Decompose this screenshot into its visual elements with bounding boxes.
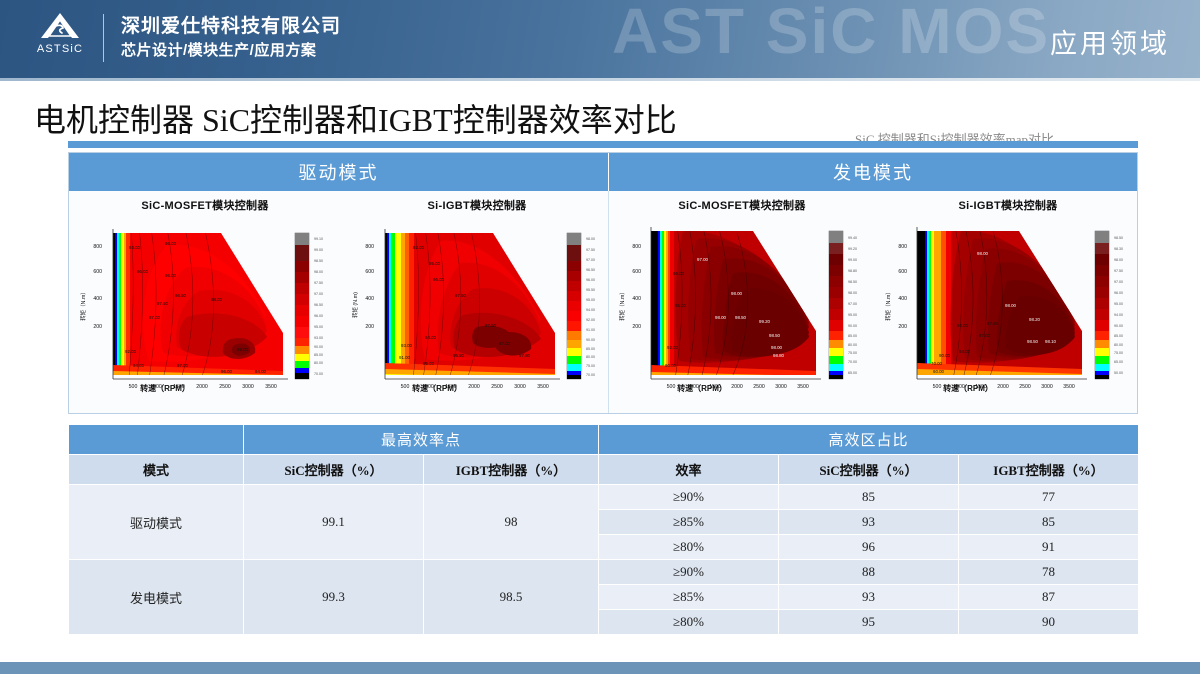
svg-text:95.00: 95.00 (1114, 302, 1123, 306)
table-column-header-row: 模式 SiC控制器（%） IGBT控制器（%） 效率 SiC控制器（%） IGB… (69, 455, 1139, 485)
chart-ylabel-drive-sic: 转矩（N.m） (79, 289, 87, 320)
section-title: 应用领域 (1050, 22, 1170, 61)
ratio-igbt: 78 (959, 560, 1139, 585)
page-title: 电机控制器 SiC控制器和IGBT控制器效率对比 (34, 95, 677, 141)
svg-text:70.00: 70.00 (931, 361, 943, 366)
sic-peak-generation: 99.3 (244, 560, 424, 635)
svg-text:96.00: 96.00 (221, 369, 233, 374)
colhead-sic-ratio: SiC控制器（%） (779, 455, 959, 485)
ratio-efficiency: ≥85% (599, 510, 779, 535)
logo-wordmark: ASTSiC (28, 43, 92, 55)
colhead-efficiency: 效率 (599, 455, 779, 485)
colorbar-gen-igbt: 98.5098.30 98.0097.50 97.0096.00 95.0094… (1095, 231, 1123, 379)
svg-text:98.80: 98.80 (848, 269, 857, 273)
header-watermark: AST SiC MOS (612, 0, 1050, 68)
ratio-efficiency: ≥90% (599, 485, 779, 510)
svg-text:98.00: 98.00 (977, 251, 989, 256)
svg-text:96.00: 96.00 (137, 269, 149, 274)
colhead-igbt-ratio: IGBT控制器（%） (959, 455, 1139, 485)
chart-gen-igbt: Si-IGBT模块控制器 (875, 191, 1141, 413)
svg-text:200: 200 (632, 324, 641, 330)
svg-text:90.00: 90.00 (939, 353, 951, 358)
svg-text:91.00: 91.00 (399, 355, 411, 360)
svg-text:97.00: 97.00 (848, 302, 857, 306)
svg-text:92.00: 92.00 (413, 245, 425, 250)
chart-gen-sic: SiC-MOSFET模块控制器 (609, 191, 875, 413)
svg-text:95.00: 95.00 (314, 325, 323, 329)
chart-area-gen-igbt: 200 400 600 800 500 1000 1500 2000 2500 (877, 215, 1139, 393)
svg-text:96.00: 96.00 (586, 278, 595, 282)
svg-text:400: 400 (93, 296, 102, 302)
svg-text:98.00: 98.00 (731, 291, 743, 296)
svg-text:400: 400 (898, 296, 907, 302)
svg-text:80.00: 80.00 (586, 355, 595, 359)
svg-text:97.50: 97.50 (157, 301, 169, 306)
svg-text:96.00: 96.00 (165, 273, 177, 278)
svg-text:85.00: 85.00 (586, 347, 595, 351)
svg-text:80.00: 80.00 (848, 343, 857, 347)
ratio-efficiency: ≥85% (599, 585, 779, 610)
svg-text:200: 200 (898, 324, 907, 330)
svg-text:800: 800 (93, 244, 102, 250)
svg-text:97.50: 97.50 (485, 323, 497, 328)
svg-text:97.00: 97.00 (979, 333, 991, 338)
table-row: 发电模式 99.3 98.5 ≥90% 88 78 (69, 560, 1139, 585)
ratio-sic: 85 (779, 485, 959, 510)
svg-text:800: 800 (365, 244, 374, 250)
chart-title-drive-sic: SiC-MOSFET模块控制器 (71, 197, 339, 213)
svg-text:92.00: 92.00 (667, 345, 679, 350)
svg-text:97.00: 97.00 (1114, 280, 1123, 284)
svg-text:400: 400 (365, 296, 374, 302)
chart-title-gen-igbt: Si-IGBT模块控制器 (877, 197, 1139, 213)
svg-text:98.00: 98.00 (1005, 303, 1017, 308)
ratio-sic: 93 (779, 585, 959, 610)
svg-text:200: 200 (365, 324, 374, 330)
svg-text:98.50: 98.50 (314, 259, 323, 263)
chart-drive-igbt: Si-IGBT模块控制器 (341, 191, 613, 413)
chart-drive-sic: SiC-MOSFET模块控制器 (69, 191, 341, 413)
svg-text:97.00: 97.00 (499, 341, 511, 346)
panel-generation-mode: SiC-MOSFET模块控制器 (609, 191, 1137, 413)
svg-text:70.00: 70.00 (848, 360, 857, 364)
ratio-efficiency: ≥90% (599, 560, 779, 585)
band-header-generate: 发电模式 (609, 153, 1137, 191)
svg-text:97.50: 97.50 (1114, 269, 1123, 273)
colorbar-gen-sic: 99.4099.20 99.0098.80 98.5098.00 97.0095… (829, 231, 857, 379)
svg-text:600: 600 (898, 269, 907, 275)
svg-text:70.00: 70.00 (314, 372, 323, 376)
svg-text:97.00: 97.00 (697, 257, 709, 262)
svg-text:90.00: 90.00 (848, 324, 857, 328)
company-tagline: 芯片设计/模块生产/应用方案 (121, 39, 341, 62)
svg-text:800: 800 (898, 244, 907, 250)
band-header-drive: 驱动模式 (69, 153, 609, 191)
svg-text:80.00: 80.00 (314, 361, 323, 365)
comparison-table-wrap: 最高效率点 高效区占比 模式 SiC控制器（%） IGBT控制器（%） 效率 S… (68, 424, 1138, 635)
svg-text:98.80: 98.80 (773, 353, 785, 358)
svg-text:96.50: 96.50 (175, 293, 187, 298)
svg-text:600: 600 (632, 269, 641, 275)
ratio-sic: 95 (779, 610, 959, 635)
svg-text:70.00: 70.00 (586, 373, 595, 377)
svg-text:97.80: 97.80 (519, 353, 531, 358)
svg-text:97.50: 97.50 (987, 321, 999, 326)
svg-text:96.00: 96.00 (314, 314, 323, 318)
ratio-efficiency: ≥80% (599, 610, 779, 635)
svg-text:75.00: 75.00 (586, 364, 595, 368)
svg-text:99.40: 99.40 (848, 236, 857, 240)
svg-text:94.00: 94.00 (959, 349, 971, 354)
svg-text:96.00: 96.00 (1114, 291, 1123, 295)
svg-text:97.50: 97.50 (586, 248, 595, 252)
igbt-peak-drive: 98 (424, 485, 599, 560)
svg-text:97.00: 97.00 (177, 363, 189, 368)
svg-text:90.00: 90.00 (586, 338, 595, 342)
svg-text:98.00: 98.00 (586, 237, 595, 241)
svg-text:94.00: 94.00 (133, 363, 145, 368)
efficiency-map-gen-sic: 200 400 600 800 500 1000 1500 2000 2500 (611, 215, 873, 393)
mode-name-drive: 驱动模式 (69, 485, 244, 560)
svg-text:95.00: 95.00 (429, 261, 441, 266)
svg-text:96.00: 96.00 (673, 271, 685, 276)
svg-text:93.00: 93.00 (129, 245, 141, 250)
svg-text:92.00: 92.00 (125, 349, 137, 354)
svg-text:98.50: 98.50 (735, 315, 747, 320)
svg-text:99.00: 99.00 (237, 347, 249, 352)
chart-area-gen-sic: 200 400 600 800 500 1000 1500 2000 2500 (611, 215, 873, 393)
svg-text:96.00: 96.00 (957, 323, 969, 328)
svg-text:97.00: 97.00 (586, 258, 595, 262)
svg-text:95.00: 95.00 (848, 313, 857, 317)
ratio-igbt: 87 (959, 585, 1139, 610)
group-blank-cell (69, 425, 244, 455)
chart-title-drive-igbt: Si-IGBT模块控制器 (343, 197, 611, 213)
ratio-sic: 96 (779, 535, 959, 560)
svg-text:95.00: 95.00 (423, 361, 435, 366)
header-divider (103, 14, 104, 62)
svg-text:65.00: 65.00 (848, 371, 857, 375)
chart-ylabel-gen-sic: 转矩（N.m） (618, 289, 626, 320)
chart-title-gen-sic: SiC-MOSFET模块控制器 (611, 197, 873, 213)
svg-text:98.00: 98.00 (211, 297, 223, 302)
mode-name-generation: 发电模式 (69, 560, 244, 635)
ratio-igbt: 90 (959, 610, 1139, 635)
svg-text:94.00: 94.00 (255, 369, 267, 374)
svg-text:65.00: 65.00 (1114, 360, 1123, 364)
svg-text:95.00: 95.00 (675, 303, 687, 308)
group-high-efficiency-ratio: 高效区占比 (599, 425, 1139, 455)
svg-text:99.20: 99.20 (759, 319, 771, 324)
svg-text:95.50: 95.50 (586, 288, 595, 292)
ratio-sic: 93 (779, 510, 959, 535)
colorbar-drive-igbt: 98.0097.50 97.0096.50 96.0095.50 95.0094… (567, 233, 595, 379)
svg-text:98.10: 98.10 (1045, 339, 1057, 344)
svg-text:94.00: 94.00 (425, 335, 437, 340)
colhead-igbt-peak: IGBT控制器（%） (424, 455, 599, 485)
svg-text:94.00: 94.00 (586, 308, 595, 312)
sic-peak-drive: 99.1 (244, 485, 424, 560)
svg-text:75.00: 75.00 (848, 351, 857, 355)
svg-text:98.50: 98.50 (848, 280, 857, 284)
svg-text:96.50: 96.50 (453, 353, 465, 358)
svg-text:800: 800 (632, 244, 641, 250)
svg-text:97.00: 97.00 (314, 292, 323, 296)
title-rule (68, 141, 1138, 148)
chart-area-drive-sic: 200 400 600 800 500 1000 1500 2000 2500 (71, 215, 339, 393)
svg-text:96.00: 96.00 (433, 277, 445, 282)
comparison-table: 最高效率点 高效区占比 模式 SiC控制器（%） IGBT控制器（%） 效率 S… (68, 424, 1139, 635)
colhead-sic-peak: SiC控制器（%） (244, 455, 424, 485)
efficiency-map-gen-igbt: 200 400 600 800 500 1000 1500 2000 2500 (877, 215, 1139, 393)
svg-text:93.00: 93.00 (314, 336, 323, 340)
svg-text:97.50: 97.50 (455, 293, 467, 298)
svg-text:98.00: 98.00 (715, 315, 727, 320)
svg-text:91.00: 91.00 (586, 328, 595, 332)
ratio-igbt: 85 (959, 510, 1139, 535)
svg-text:400: 400 (632, 296, 641, 302)
charts-band-headers: 驱动模式 发电模式 (69, 153, 1137, 191)
efficiency-map-drive-sic: 200 400 600 800 500 1000 1500 2000 2500 (71, 215, 339, 393)
group-peak-efficiency: 最高效率点 (244, 425, 599, 455)
company-logo: ASTSiC (28, 11, 92, 65)
svg-text:99.00: 99.00 (314, 248, 323, 252)
svg-text:96.50: 96.50 (314, 303, 323, 307)
chart-ylabel-gen-igbt: 转矩（N.m） (884, 289, 892, 320)
svg-text:85.00: 85.00 (1114, 334, 1123, 338)
svg-text:92.00: 92.00 (586, 318, 595, 322)
svg-text:80.00: 80.00 (1114, 343, 1123, 347)
svg-text:93.00: 93.00 (401, 343, 413, 348)
ratio-efficiency: ≥80% (599, 535, 779, 560)
table-group-header-row: 最高效率点 高效区占比 (69, 425, 1139, 455)
svg-text:96.50: 96.50 (586, 268, 595, 272)
ratio-igbt: 91 (959, 535, 1139, 560)
svg-text:95.00: 95.00 (586, 298, 595, 302)
ratio-igbt: 77 (959, 485, 1139, 510)
table-row: 驱动模式 99.1 98 ≥90% 85 77 (69, 485, 1139, 510)
svg-text:99.00: 99.00 (848, 258, 857, 262)
chart-area-drive-igbt: 200 400 600 800 500 1000 1500 2000 2500 (343, 215, 611, 393)
chart-ylabel-drive-igbt: 转矩 (N.m) (351, 292, 359, 318)
svg-text:50.00: 50.00 (1114, 371, 1123, 375)
chart-xlabel-gen-igbt: 转速（RPM） (797, 383, 1139, 394)
page-header: AST SiC MOS ASTSiC 深圳爱仕特科技有限公司 芯片设计/模块生产… (0, 0, 1200, 78)
svg-text:96.00: 96.00 (165, 241, 177, 246)
ratio-sic: 88 (779, 560, 959, 585)
svg-text:600: 600 (365, 269, 374, 275)
svg-text:98.50: 98.50 (1027, 339, 1039, 344)
charts-band: 驱动模式 发电模式 SiC-MOSFET模块控制器 (68, 152, 1138, 414)
svg-text:85.00: 85.00 (848, 334, 857, 338)
svg-text:98.50: 98.50 (769, 333, 781, 338)
colorbar-drive-sic: 99.1099.00 98.5098.00 97.5097.00 96.5096… (295, 233, 323, 379)
colhead-mode: 模式 (69, 455, 244, 485)
svg-text:75.00: 75.00 (1114, 351, 1123, 355)
efficiency-map-drive-igbt: 200 400 600 800 500 1000 1500 2000 2500 (343, 215, 611, 393)
svg-text:97.50: 97.50 (314, 281, 323, 285)
company-name: 深圳爱仕特科技有限公司 (121, 14, 341, 39)
svg-text:98.20: 98.20 (1029, 317, 1041, 322)
panel-drive-mode: SiC-MOSFET模块控制器 (69, 191, 609, 413)
company-name-block: 深圳爱仕特科技有限公司 芯片设计/模块生产/应用方案 (121, 14, 341, 62)
svg-text:98.30: 98.30 (1114, 247, 1123, 251)
svg-text:200: 200 (93, 324, 102, 330)
slide-root: AST SiC MOS ASTSiC 深圳爱仕特科技有限公司 芯片设计/模块生产… (0, 0, 1200, 674)
footer-bar (0, 662, 1200, 674)
svg-text:60.00: 60.00 (933, 369, 945, 374)
svg-text:98.00: 98.00 (314, 270, 323, 274)
svg-text:600: 600 (93, 269, 102, 275)
header-underline (0, 78, 1200, 81)
svg-text:90.00: 90.00 (314, 345, 323, 349)
svg-text:90.00: 90.00 (1114, 324, 1123, 328)
charts-band-body: SiC-MOSFET模块控制器 (69, 191, 1137, 413)
svg-text:99.20: 99.20 (848, 247, 857, 251)
svg-text:97.00: 97.00 (149, 315, 161, 320)
svg-text:98.00: 98.00 (1114, 258, 1123, 262)
svg-text:85.00: 85.00 (314, 353, 323, 357)
svg-text:98.50: 98.50 (1114, 236, 1123, 240)
svg-text:98.00: 98.00 (848, 291, 857, 295)
ast-triangle-logo-icon (38, 11, 82, 41)
svg-text:94.00: 94.00 (1114, 313, 1123, 317)
igbt-peak-generation: 98.5 (424, 560, 599, 635)
svg-text:98.00: 98.00 (771, 345, 783, 350)
svg-text:90.00: 90.00 (665, 363, 677, 368)
svg-text:99.10: 99.10 (314, 237, 323, 241)
